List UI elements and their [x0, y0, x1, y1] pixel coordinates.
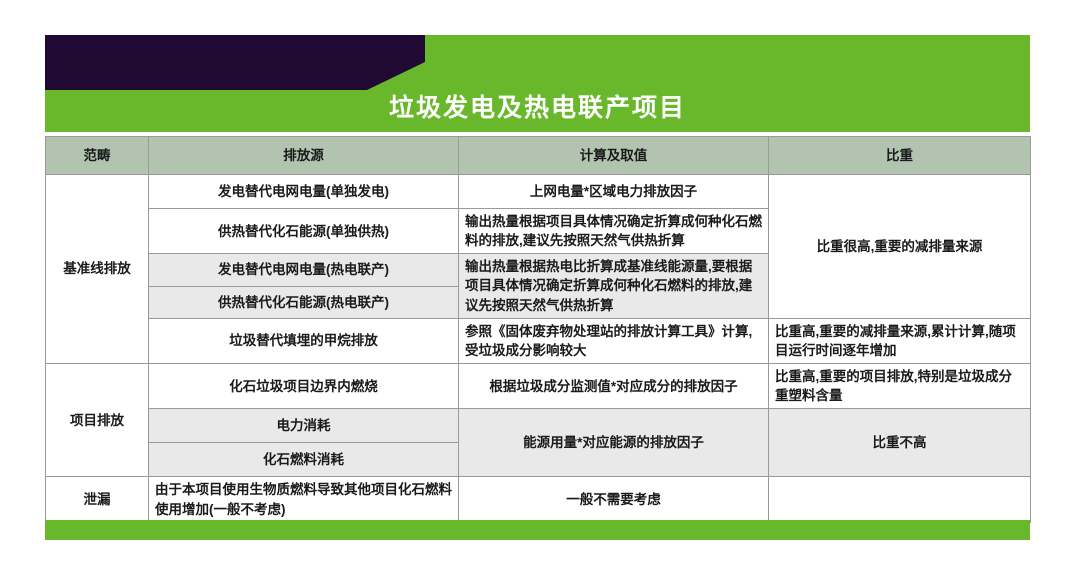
bottom-accent-bar: [45, 520, 1030, 540]
table-row: 泄漏 由于本项目使用生物质燃料导致其他项目化石燃料使用增加(一般不考虑) 一般不…: [46, 477, 1031, 522]
source-cell: 化石燃料消耗: [149, 443, 459, 477]
source-cell: 供热替代化石能源(单独供热): [149, 209, 459, 254]
share-cell: 比重高,重要的项目排放,特别是垃圾成分重塑料含量: [769, 364, 1031, 409]
source-cell: 发电替代电网电量(单独发电): [149, 175, 459, 209]
source-cell: 发电替代电网电量(热电联产): [149, 254, 459, 286]
category-cell-project: 项目排放: [46, 364, 149, 477]
title-banner: 垃圾发电及热电联产项目: [45, 35, 1030, 132]
share-cell-baseline: 比重很高,重要的减排量来源: [769, 175, 1031, 319]
source-cell: 由于本项目使用生物质燃料导致其他项目化石燃料使用增加(一般不考虑): [149, 477, 459, 522]
share-cell: [769, 477, 1031, 522]
category-cell-leakage: 泄漏: [46, 477, 149, 522]
calculation-cell: 上网电量*区域电力排放因子: [459, 175, 769, 209]
column-header-calculation: 计算及取值: [459, 137, 769, 175]
calculation-cell: 一般不需要考虑: [459, 477, 769, 522]
source-cell: 供热替代化石能源(热电联产): [149, 286, 459, 318]
calculation-cell: 参照《固体废弃物处理站的排放计算工具》计算,受垃圾成分影响较大: [459, 318, 769, 363]
category-cell-baseline: 基准线排放: [46, 175, 149, 364]
share-cell: 比重不高: [769, 409, 1031, 477]
table-row: 基准线排放 发电替代电网电量(单独发电) 上网电量*区域电力排放因子 比重很高,…: [46, 175, 1031, 209]
source-cell: 化石垃圾项目边界内燃烧: [149, 364, 459, 409]
table-header-row: 范畴 排放源 计算及取值 比重: [46, 137, 1031, 175]
slide-page: 垃圾发电及热电联产项目 范畴 排放源 计算及取值 比重 基准线排放 发电替代电网…: [0, 0, 1080, 577]
emissions-table-wrapper: 范畴 排放源 计算及取值 比重 基准线排放 发电替代电网电量(单独发电) 上网电…: [45, 136, 1030, 523]
column-header-share: 比重: [769, 137, 1031, 175]
calculation-cell: 输出热量根据热电比折算成基准线能源量,要根据项目具体情况确定折算成何种化石燃料的…: [459, 254, 769, 318]
share-cell: 比重高,重要的减排量来源,累计计算,随项目运行时间逐年增加: [769, 318, 1031, 363]
calculation-cell: 输出热量根据项目具体情况确定折算成何种化石燃料的排放,建议先按照天然气供热折算: [459, 209, 769, 254]
page-title: 垃圾发电及热电联产项目: [45, 35, 1030, 132]
column-header-category: 范畴: [46, 137, 149, 175]
table-row: 垃圾替代填埋的甲烷排放 参照《固体废弃物处理站的排放计算工具》计算,受垃圾成分影…: [46, 318, 1031, 363]
emissions-table: 范畴 排放源 计算及取值 比重 基准线排放 发电替代电网电量(单独发电) 上网电…: [45, 136, 1031, 523]
source-cell: 电力消耗: [149, 409, 459, 443]
source-cell: 垃圾替代填埋的甲烷排放: [149, 318, 459, 363]
calculation-cell: 根据垃圾成分监测值*对应成分的排放因子: [459, 364, 769, 409]
table-row: 电力消耗 能源用量*对应能源的排放因子 比重不高: [46, 409, 1031, 443]
calculation-cell: 能源用量*对应能源的排放因子: [459, 409, 769, 477]
column-header-source: 排放源: [149, 137, 459, 175]
table-row: 项目排放 化石垃圾项目边界内燃烧 根据垃圾成分监测值*对应成分的排放因子 比重高…: [46, 364, 1031, 409]
